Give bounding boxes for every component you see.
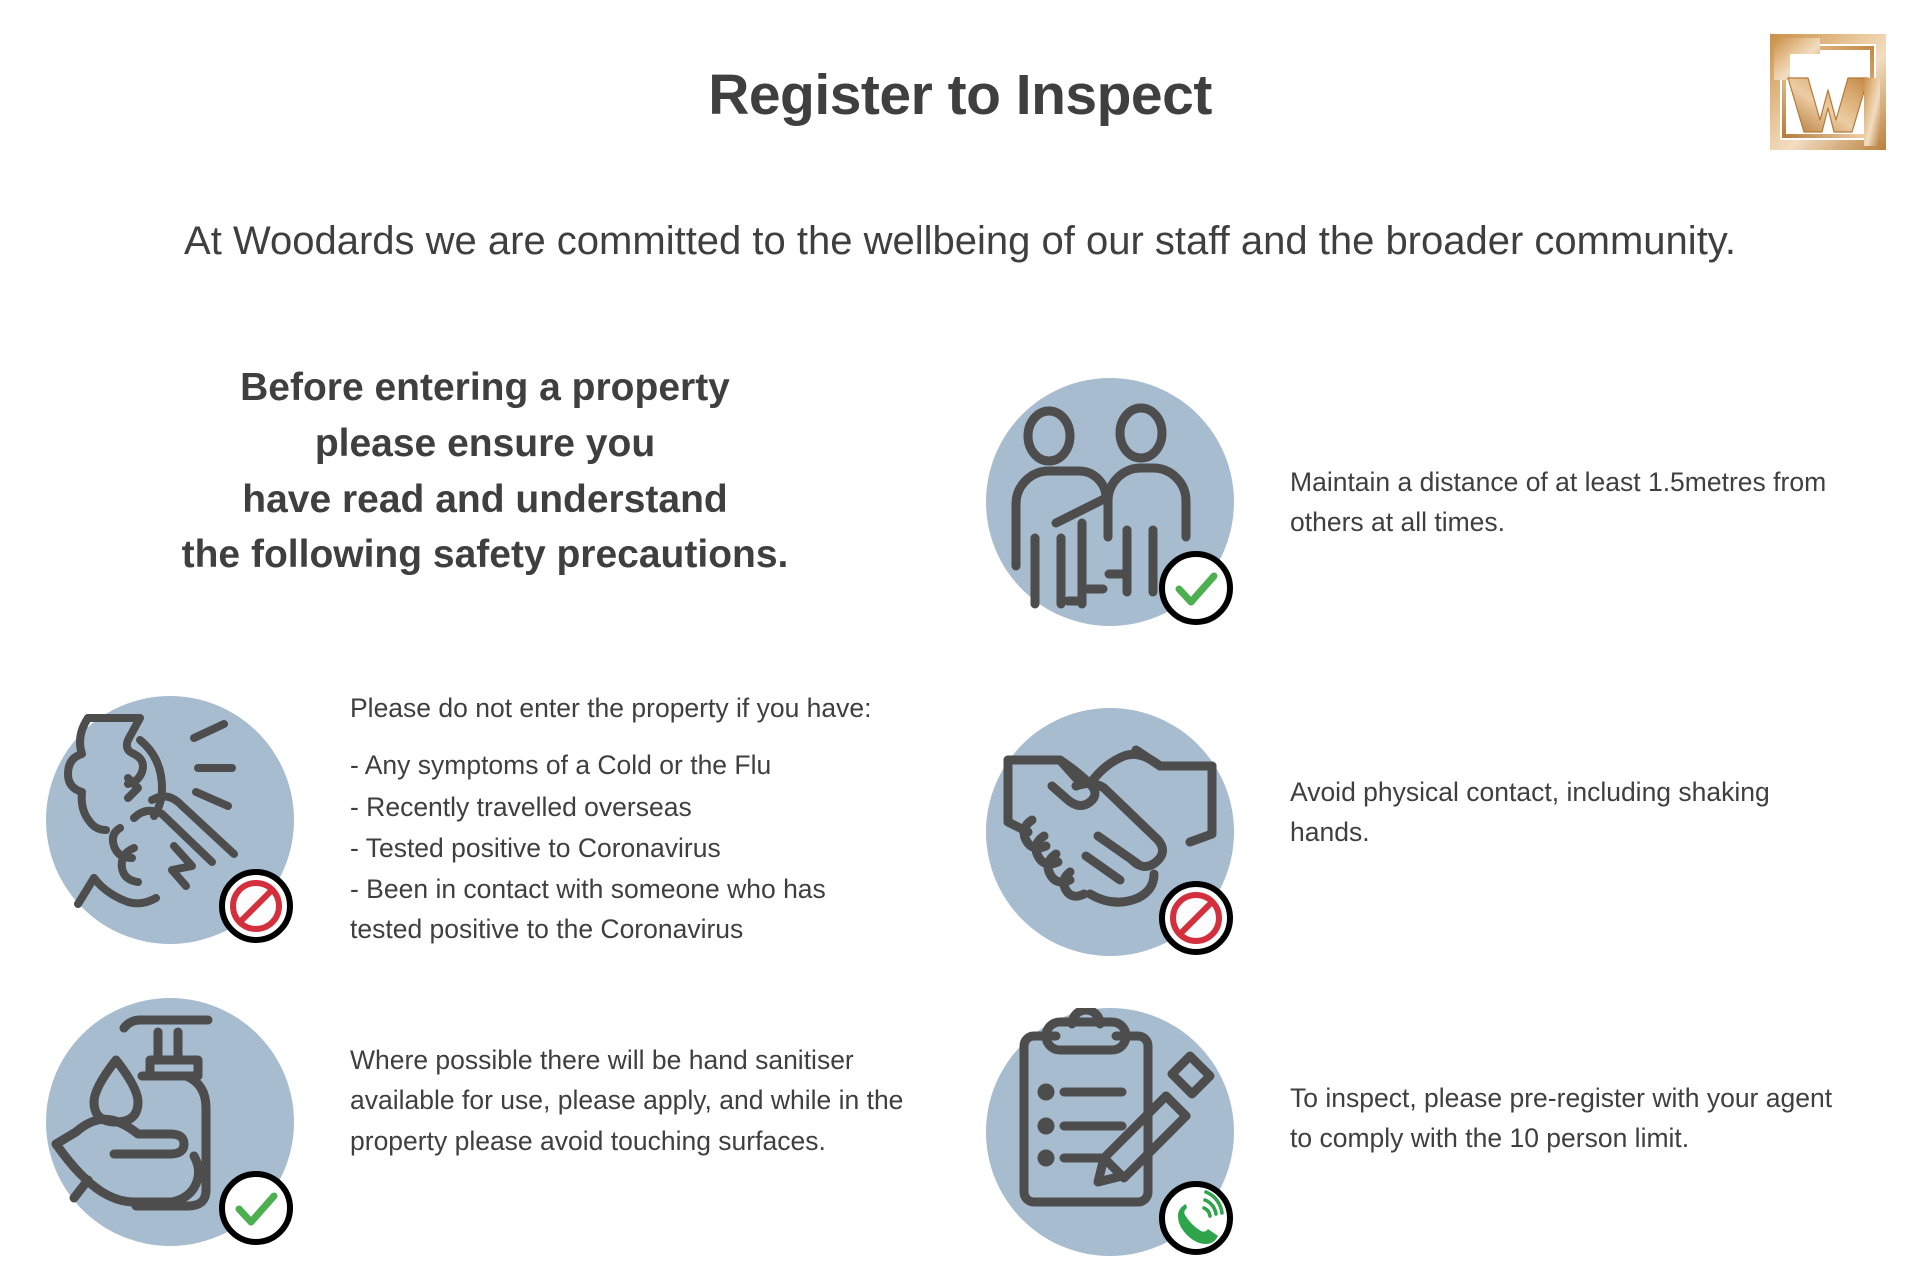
symptoms-list: - Any symptoms of a Cold or the Flu - Re… xyxy=(350,745,950,949)
hand-sanitiser-icon xyxy=(38,990,302,1254)
intro-statement: At Woodards we are committed to the well… xyxy=(0,219,1920,264)
check-badge-icon xyxy=(1156,548,1236,628)
distance-text: Maintain a distance of at least 1.5metre… xyxy=(1242,370,1850,543)
lead-line-2: please ensure you xyxy=(30,416,940,472)
clipboard-pencil-icon xyxy=(978,1000,1242,1264)
safety-item-distance: Maintain a distance of at least 1.5metre… xyxy=(978,370,1850,634)
safety-item-symptoms: Please do not enter the property if you … xyxy=(38,688,950,952)
symptoms-text-block: Please do not enter the property if you … xyxy=(302,688,950,951)
lead-line-1: Before entering a property xyxy=(30,360,940,416)
physical-contact-text: Avoid physical contact, including shakin… xyxy=(1242,700,1850,853)
symptoms-heading: Please do not enter the property if you … xyxy=(350,688,950,728)
phone-badge-icon xyxy=(1156,1178,1236,1258)
sneezing-person-icon xyxy=(38,688,302,952)
prohibited-badge-icon xyxy=(1156,878,1236,958)
page-title: Register to Inspect xyxy=(0,62,1920,128)
two-people-distancing-icon xyxy=(978,370,1242,634)
prohibited-badge-icon xyxy=(216,866,296,946)
lead-line-3: have read and understand xyxy=(30,472,940,528)
safety-item-sanitiser: Where possible there will be hand saniti… xyxy=(38,990,940,1254)
list-item: - Recently travelled overseas xyxy=(350,787,950,827)
safety-item-physical-contact: Avoid physical contact, including shakin… xyxy=(978,700,1850,964)
list-item: - Been in contact with someone who has t… xyxy=(350,869,950,950)
sanitiser-text: Where possible there will be hand saniti… xyxy=(302,990,940,1161)
safety-item-pre-register: To inspect, please pre-register with you… xyxy=(978,1000,1850,1264)
handshake-icon xyxy=(978,700,1242,964)
lead-line-4: the following safety precautions. xyxy=(30,527,940,583)
pre-register-text: To inspect, please pre-register with you… xyxy=(1242,1000,1850,1159)
check-badge-icon xyxy=(216,1168,296,1248)
list-item: - Any symptoms of a Cold or the Flu xyxy=(350,745,950,785)
lead-instruction-block: Before entering a property please ensure… xyxy=(30,360,940,583)
list-item: - Tested positive to Coronavirus xyxy=(350,828,950,868)
